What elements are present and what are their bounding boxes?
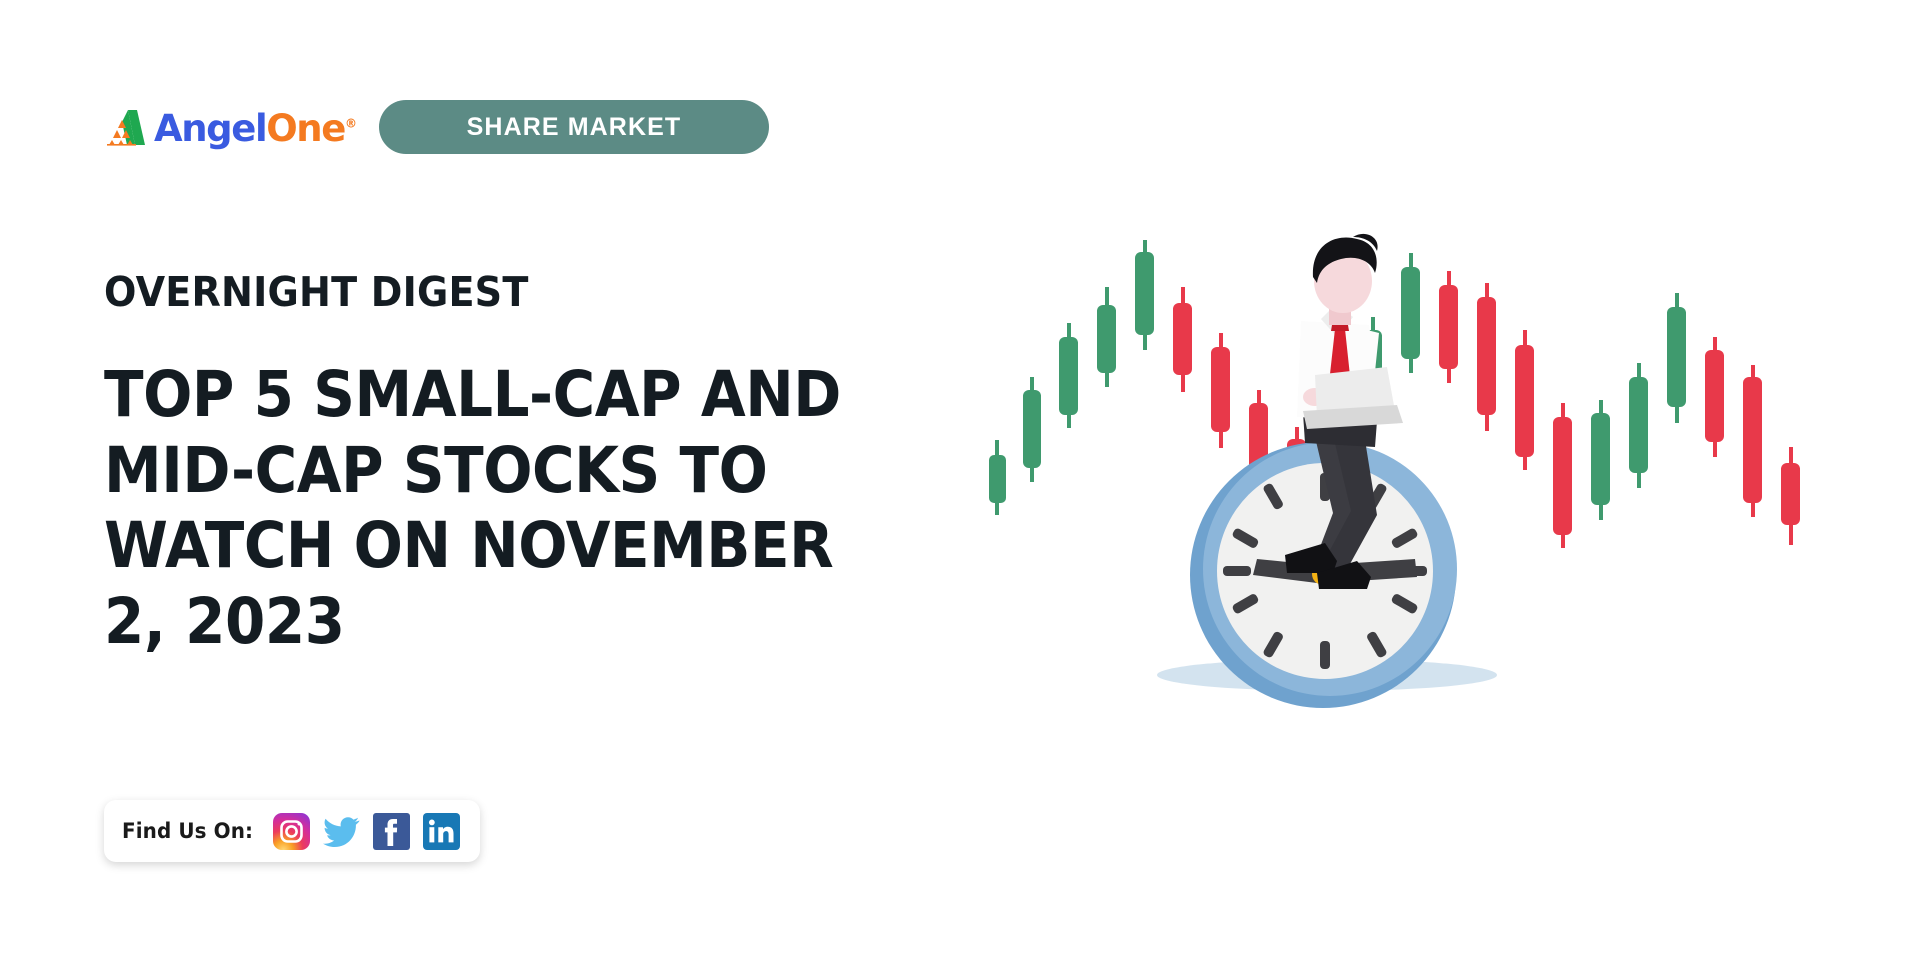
candle-up-2 — [1023, 377, 1041, 482]
candle-down-16 — [1553, 403, 1572, 548]
poster-canvas: AngelOne® SHARE MARKET OVERNIGHT DIGEST … — [0, 0, 1920, 966]
laptop — [1303, 367, 1403, 429]
candle-down-7 — [1211, 333, 1230, 448]
facebook-icon[interactable] — [373, 813, 410, 850]
share-market-badge[interactable]: SHARE MARKET — [379, 100, 769, 154]
page-title: Top 5 Small-Cap and Mid-Cap Stocks to Wa… — [104, 357, 881, 659]
hero-illustration — [985, 225, 1895, 745]
candle-down-6 — [1173, 287, 1192, 392]
find-us-on-bar: Find Us On: — [104, 800, 480, 862]
candle-down-21 — [1743, 365, 1762, 517]
candle-up-12 — [1401, 253, 1420, 373]
twitter-icon[interactable] — [323, 813, 360, 850]
candle-up-19 — [1667, 293, 1686, 423]
candle-up-4 — [1097, 287, 1116, 387]
linkedin-icon[interactable] — [423, 813, 460, 850]
candle-up-17 — [1591, 400, 1610, 520]
article-copy: OVERNIGHT DIGEST Top 5 Small-Cap and Mid… — [104, 272, 984, 659]
find-us-on-label: Find Us On: — [122, 819, 253, 843]
header: AngelOne® SHARE MARKET — [104, 100, 769, 154]
brand-name-one: One — [266, 107, 345, 150]
candle-down-13 — [1439, 271, 1458, 383]
candle-down-14 — [1477, 283, 1496, 431]
angelone-a-mark-icon — [104, 108, 146, 146]
candlestick-clock-illustration — [985, 225, 1895, 745]
candle-up-5 — [1135, 240, 1154, 350]
brand-logo[interactable]: AngelOne® — [104, 104, 357, 150]
eyebrow-label: OVERNIGHT DIGEST — [104, 272, 922, 313]
brand-name-angel: Angel — [154, 107, 266, 150]
registered-mark-icon: ® — [345, 116, 357, 130]
brand-wordmark: AngelOne® — [154, 110, 357, 147]
candle-down-20 — [1705, 337, 1724, 457]
share-market-badge-label: SHARE MARKET — [467, 113, 682, 142]
candle-down-22 — [1781, 447, 1800, 545]
candle-down-15 — [1515, 330, 1534, 470]
instagram-icon[interactable] — [273, 813, 310, 850]
candle-up-18 — [1629, 363, 1648, 488]
candle-up-1 — [989, 440, 1006, 515]
candle-up-3 — [1059, 323, 1078, 428]
